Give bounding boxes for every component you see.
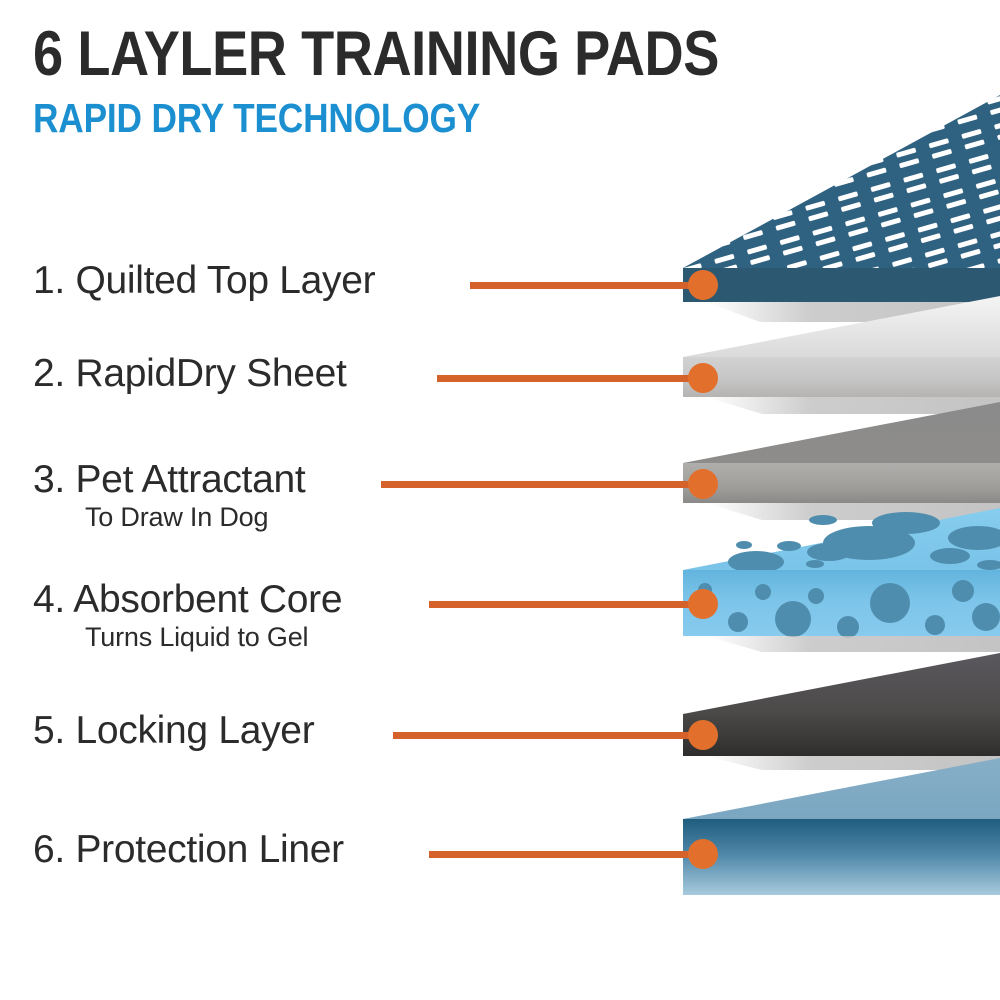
layer-label-4-title: 4. Absorbent Core: [33, 579, 342, 621]
layer-label-6-title: 6. Protection Liner: [33, 829, 344, 871]
infographic-canvas: 6 LAYLER TRAINING PADS RAPID DRY TECHNOL…: [0, 0, 1000, 1000]
layer-label-3-subtitle: To Draw In Dog: [85, 502, 305, 532]
layer-slab-2: [683, 296, 1000, 414]
layer-label-3[interactable]: 3. Pet Attractant To Draw In Dog: [33, 459, 305, 532]
layer-label-4-subtitle: Turns Liquid to Gel: [85, 622, 342, 652]
layer-label-6[interactable]: 6. Protection Liner: [33, 829, 344, 871]
layer-label-5-title: 5. Locking Layer: [33, 710, 314, 752]
layer-label-2[interactable]: 2. RapidDry Sheet: [33, 353, 347, 395]
layer-slab-3: [683, 402, 1000, 520]
layer-slab-5: [683, 653, 1000, 770]
layer-slab-6: [683, 758, 1000, 895]
layer-slab-4: [683, 508, 1000, 652]
gel-bubbles-face: [698, 580, 1000, 638]
layer-label-3-title: 3. Pet Attractant: [33, 459, 305, 501]
layer-label-4[interactable]: 4. Absorbent Core Turns Liquid to Gel: [33, 579, 342, 652]
layer-label-1-title: 1. Quilted Top Layer: [33, 260, 375, 302]
layer-label-1[interactable]: 1. Quilted Top Layer: [33, 260, 375, 302]
layer-label-list: 1. Quilted Top Layer 2. RapidDry Sheet 3…: [0, 0, 700, 1000]
layer-label-2-title: 2. RapidDry Sheet: [33, 353, 347, 395]
layer-label-5[interactable]: 5. Locking Layer: [33, 710, 314, 752]
